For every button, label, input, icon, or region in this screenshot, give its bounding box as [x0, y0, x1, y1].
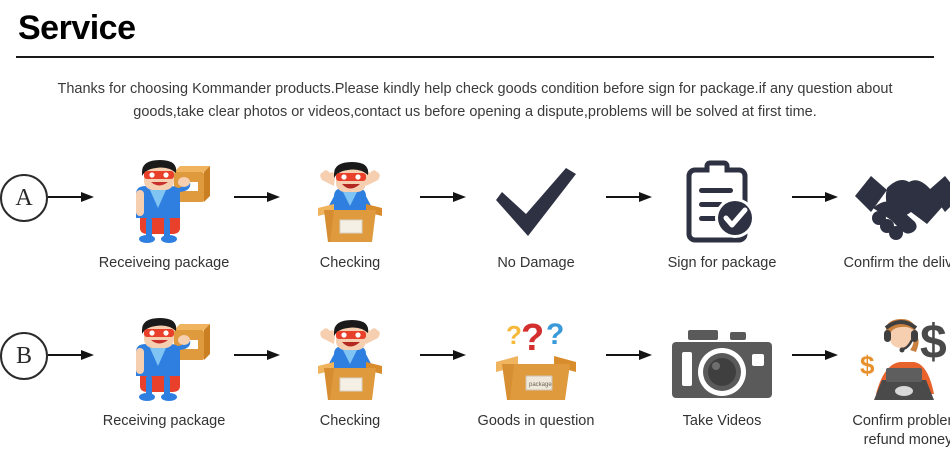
- flow-row-b: B: [0, 318, 950, 450]
- camera-icon: [652, 318, 792, 402]
- svg-text:$: $: [860, 350, 875, 380]
- step-b-4: Take Videos: [652, 318, 792, 431]
- svg-text:?: ?: [521, 317, 544, 359]
- arrow-b-5: [792, 318, 838, 360]
- step-a-3-label: No Damage: [497, 254, 574, 273]
- arrow-b-3: [420, 318, 466, 360]
- row-badge-a: A: [0, 174, 48, 222]
- flow-row-a: A: [0, 160, 950, 273]
- step-b-1: Receiving package: [94, 318, 234, 431]
- step-b-2: Checking: [280, 318, 420, 431]
- arrow-a-2: [234, 160, 280, 202]
- step-b-4-label: Take Videos: [683, 412, 762, 431]
- title-divider: [16, 56, 934, 58]
- page-title: Service: [18, 8, 136, 48]
- arrow-a-3: [420, 160, 466, 202]
- step-a-5-label: Confirm the delivery: [844, 254, 950, 273]
- arrow-b-4: [606, 318, 652, 360]
- step-b-5: $ $ Confirm problem, refund money: [838, 318, 950, 450]
- hero-in-open-box-icon: [280, 160, 420, 244]
- step-a-2-label: Checking: [320, 254, 380, 273]
- svg-text:package: package: [529, 382, 552, 388]
- arrow-a-4: [606, 160, 652, 202]
- support-agent-dollar-icon: $ $: [838, 318, 950, 402]
- hero-with-package-icon: [94, 318, 234, 402]
- row-badge-b: B: [0, 332, 48, 380]
- row-badge-b-cell: B: [0, 318, 48, 380]
- intro-paragraph: Thanks for choosing Kommander products.P…: [22, 78, 928, 124]
- hero-with-package-icon: [94, 160, 234, 244]
- svg-text:?: ?: [506, 320, 522, 350]
- step-a-1-label: Receiveing package: [99, 254, 230, 273]
- step-b-2-label: Checking: [320, 412, 380, 431]
- step-a-5: Confirm the delivery: [838, 160, 950, 273]
- arrow-b-2: [234, 318, 280, 360]
- step-a-2: Checking: [280, 160, 420, 273]
- step-b-3: ? ? ? package Goods in question: [466, 318, 606, 431]
- svg-text:$: $: [920, 316, 947, 369]
- step-a-3: No Damage: [466, 160, 606, 273]
- arrow-a-1: [48, 160, 94, 202]
- svg-text:?: ?: [546, 318, 564, 351]
- step-b-3-label: Goods in question: [478, 412, 595, 431]
- step-b-1-label: Receiving package: [103, 412, 226, 431]
- handshake-icon: [838, 160, 950, 244]
- checkmark-icon: [466, 160, 606, 244]
- box-question-marks-icon: ? ? ? package: [466, 318, 606, 402]
- row-badge-a-cell: A: [0, 160, 48, 222]
- arrow-b-1: [48, 318, 94, 360]
- arrow-a-5: [792, 160, 838, 202]
- step-a-4: Sign for package: [652, 160, 792, 273]
- step-a-4-label: Sign for package: [668, 254, 777, 273]
- step-b-5-label: Confirm problem, refund money: [852, 412, 950, 450]
- hero-in-open-box-icon: [280, 318, 420, 402]
- clipboard-check-icon: [652, 160, 792, 244]
- step-a-1: Receiveing package: [94, 160, 234, 273]
